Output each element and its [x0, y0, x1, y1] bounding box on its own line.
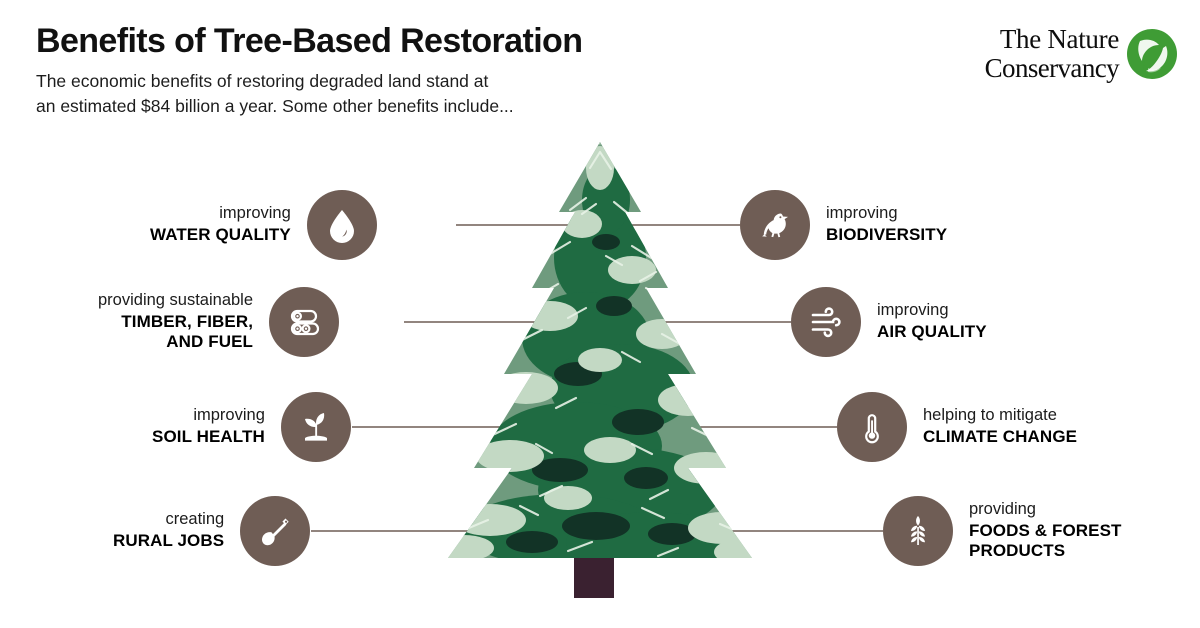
- shovel-icon[interactable]: [240, 496, 310, 566]
- benefit-title: CLIMATE CHANGE: [923, 427, 1077, 447]
- logo-wordmark: The Nature Conservancy: [985, 26, 1119, 82]
- benefit-soil-health[interactable]: improving SOIL HEALTH: [152, 392, 351, 462]
- benefit-label: improving WATER QUALITY: [150, 204, 291, 245]
- benefit-biodiversity[interactable]: improving BIODIVERSITY: [740, 190, 947, 260]
- seedling-icon[interactable]: [281, 392, 351, 462]
- benefit-lead: providing sustainable: [98, 291, 253, 311]
- benefit-lead: helping to mitigate: [923, 406, 1077, 426]
- benefit-label: improving AIR QUALITY: [877, 301, 987, 342]
- header: Benefits of Tree-Based Restoration The e…: [36, 22, 736, 120]
- benefit-title: SOIL HEALTH: [152, 427, 265, 447]
- benefit-label: helping to mitigate CLIMATE CHANGE: [923, 406, 1077, 447]
- thermometer-icon[interactable]: [837, 392, 907, 462]
- subtitle-line-2: an estimated $84 billion a year. Some ot…: [36, 94, 736, 119]
- benefit-lead: creating: [113, 510, 224, 530]
- benefit-title: RURAL JOBS: [113, 531, 224, 551]
- benefit-lead: providing: [969, 500, 1122, 520]
- benefit-label: improving SOIL HEALTH: [152, 406, 265, 447]
- benefit-title: TIMBER, FIBER, AND FUEL: [98, 312, 253, 353]
- benefit-label: creating RURAL JOBS: [113, 510, 224, 551]
- nature-conservancy-logo: The Nature Conservancy: [985, 26, 1178, 82]
- benefit-foods-forest-products[interactable]: providing FOODS & FOREST PRODUCTS: [883, 496, 1122, 566]
- logs-icon[interactable]: [269, 287, 339, 357]
- wheat-icon[interactable]: [883, 496, 953, 566]
- benefit-title: FOODS & FOREST PRODUCTS: [969, 521, 1122, 562]
- logo-line-2: Conservancy: [985, 55, 1119, 82]
- benefit-timber-fiber-fuel[interactable]: providing sustainable TIMBER, FIBER, AND…: [98, 287, 339, 357]
- water-drop-icon[interactable]: [307, 190, 377, 260]
- subtitle: The economic benefits of restoring degra…: [36, 69, 736, 120]
- wind-icon[interactable]: [791, 287, 861, 357]
- benefit-label: improving BIODIVERSITY: [826, 204, 947, 245]
- benefit-lead: improving: [152, 406, 265, 426]
- benefit-title: AIR QUALITY: [877, 322, 987, 342]
- benefit-lead: improving: [877, 301, 987, 321]
- subtitle-line-1: The economic benefits of restoring degra…: [36, 69, 736, 94]
- bird-icon[interactable]: [740, 190, 810, 260]
- page-title: Benefits of Tree-Based Restoration: [36, 22, 736, 60]
- benefit-label: providing sustainable TIMBER, FIBER, AND…: [98, 291, 253, 353]
- infographic-canvas: Benefits of Tree-Based Restoration The e…: [0, 0, 1200, 628]
- benefit-air-quality[interactable]: improving AIR QUALITY: [791, 287, 987, 357]
- benefit-lead: improving: [150, 204, 291, 224]
- benefit-rural-jobs[interactable]: creating RURAL JOBS: [113, 496, 310, 566]
- benefit-water-quality[interactable]: improving WATER QUALITY: [150, 190, 377, 260]
- benefit-climate-change[interactable]: helping to mitigate CLIMATE CHANGE: [837, 392, 1077, 462]
- benefit-title: BIODIVERSITY: [826, 225, 947, 245]
- globe-leaf-icon: [1126, 28, 1178, 80]
- benefit-title: WATER QUALITY: [150, 225, 291, 245]
- benefit-label: providing FOODS & FOREST PRODUCTS: [969, 500, 1122, 562]
- benefit-lead: improving: [826, 204, 947, 224]
- logo-line-1: The Nature: [985, 26, 1119, 53]
